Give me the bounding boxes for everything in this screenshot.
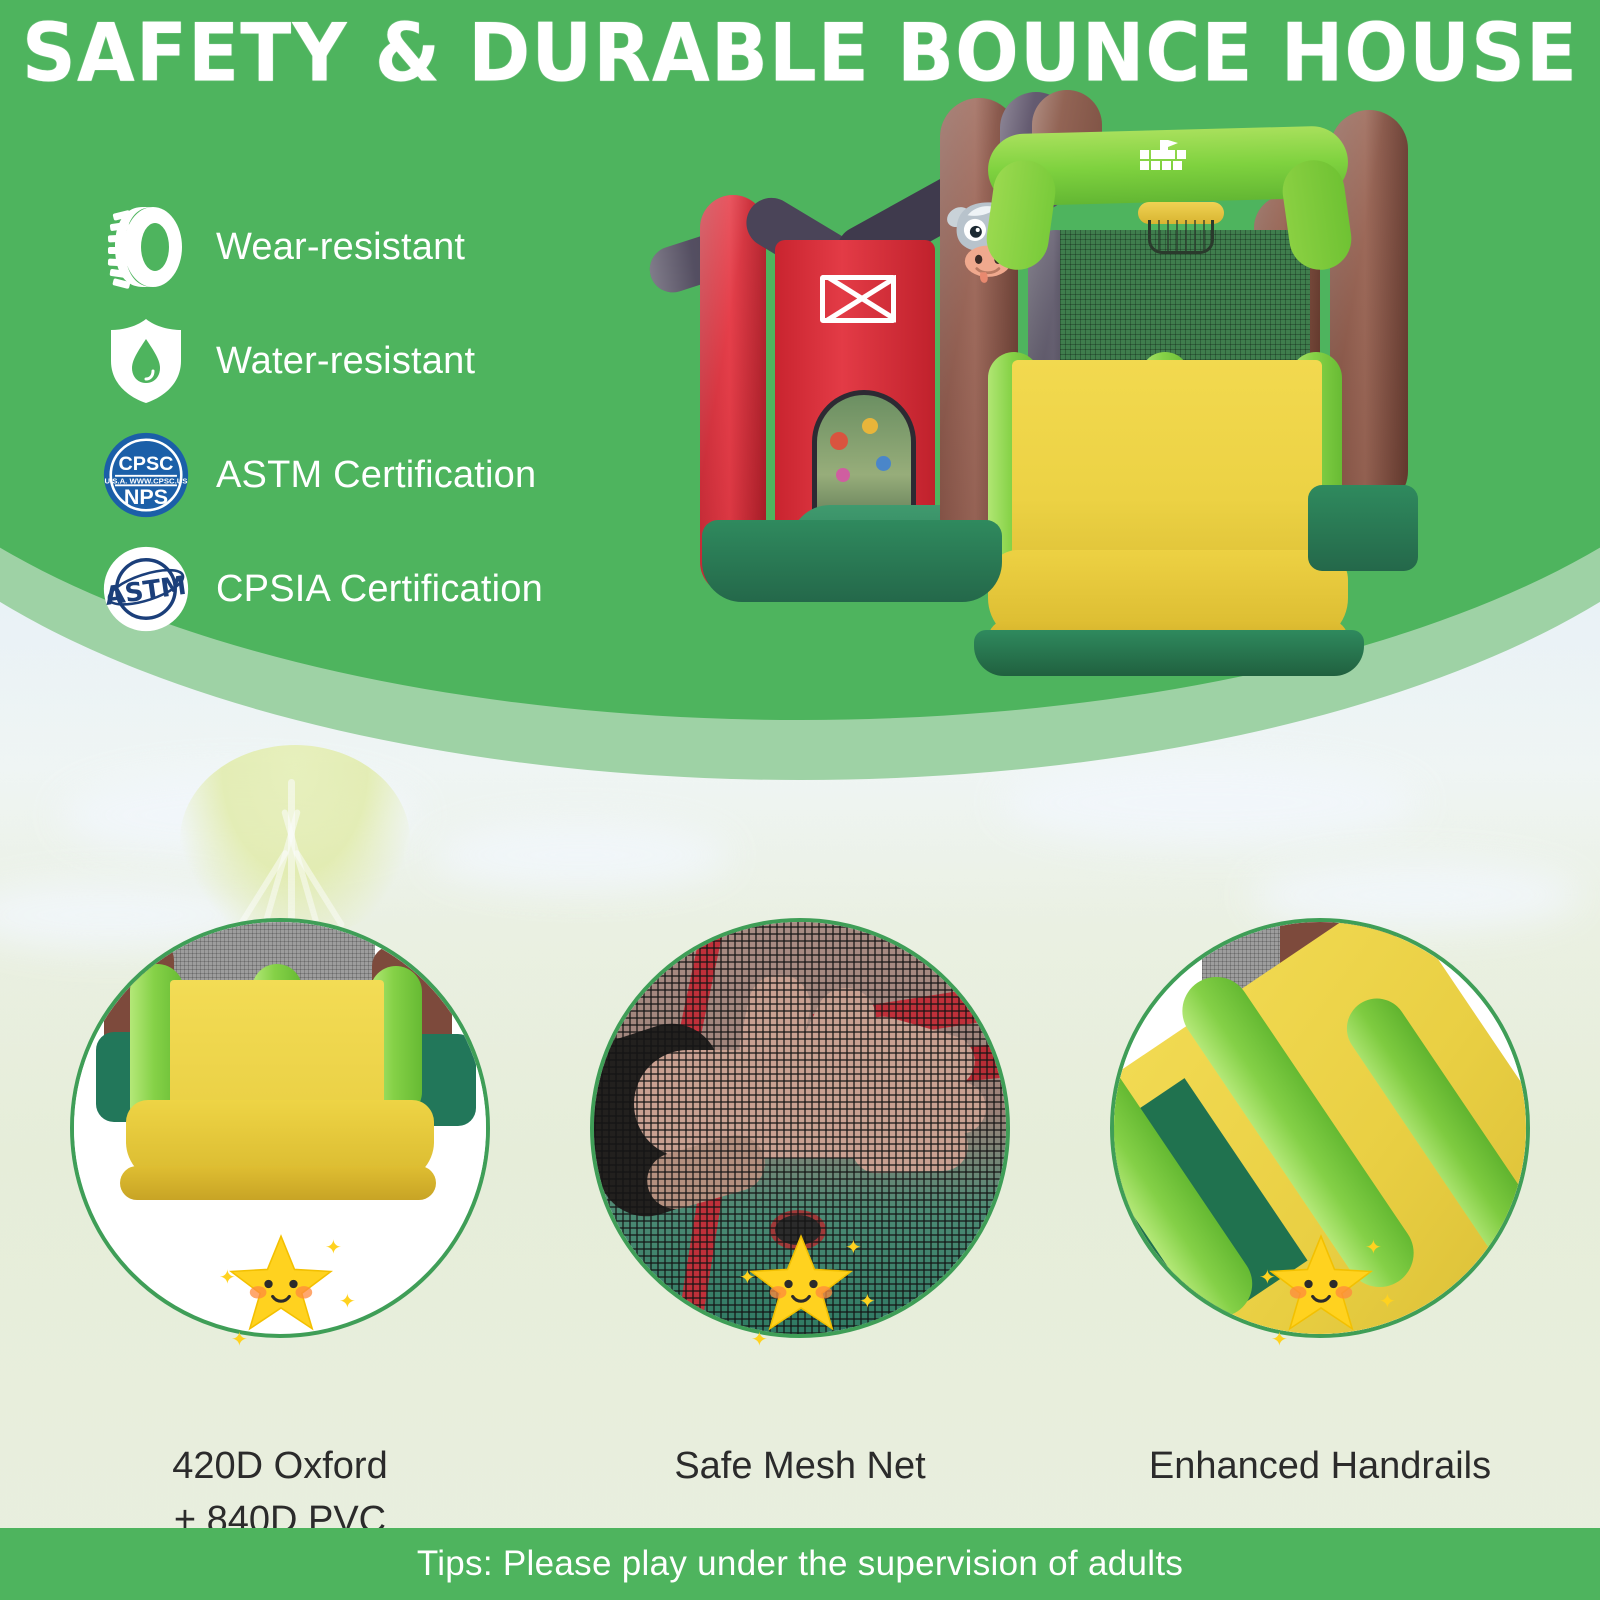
basketball-hoop-net	[1148, 220, 1214, 254]
tire-icon	[100, 201, 192, 293]
feature-label: CPSIA Certification	[216, 568, 543, 611]
cpsc-top-text: CPSC	[119, 453, 174, 475]
feature-item-wear-resistant: Wear-resistant	[100, 190, 660, 304]
cloud-decoration	[1000, 760, 1420, 845]
feature-item-astm-certification: CPSC U.S.A. WWW.CPSC.US NPS ASTM Certifi…	[100, 418, 660, 532]
castle-logo-icon	[1138, 138, 1188, 178]
caption-line: 420D Oxford	[50, 1440, 510, 1494]
feature-label: Water-resistant	[216, 340, 475, 383]
shield-water-drop-icon	[100, 315, 192, 407]
cloud-decoration	[430, 820, 730, 890]
tips-text: Tips: Please play under the supervision …	[417, 1544, 1183, 1584]
base-skirt-slide	[974, 630, 1364, 676]
feature-item-cpsia-certification: ASTM CPSIA Certification	[100, 532, 660, 646]
hero-product-image	[640, 90, 1540, 710]
astm-badge-icon: ASTM	[100, 543, 192, 635]
feature-label: Wear-resistant	[216, 226, 465, 269]
caption-line: Safe Mesh Net	[570, 1440, 1030, 1494]
detail-card-row: ✦ ✦ ✦ ✦ ✦ ✦ ✦ ✦ ✦ ✦ ✦ ✦	[0, 900, 1600, 1320]
smiling-star-badge: ✦ ✦ ✦ ✦	[735, 1222, 865, 1352]
detail-caption-mesh-net: Safe Mesh Net	[570, 1440, 1030, 1494]
tips-banner: Tips: Please play under the supervision …	[0, 1528, 1600, 1600]
smiling-star-badge: ✦ ✦ ✦ ✦	[215, 1222, 345, 1352]
cpsc-badge-icon: CPSC U.S.A. WWW.CPSC.US NPS	[100, 429, 192, 521]
smiling-star-badge: ✦ ✦ ✦ ✦	[1255, 1222, 1385, 1352]
barn-window-icon	[820, 275, 896, 323]
base-skirt-right	[1308, 485, 1418, 571]
feature-item-water-resistant: Water-resistant	[100, 304, 660, 418]
page-title: SAFETY & DURABLE BOUNCE HOUSE	[0, 12, 1600, 93]
base-skirt-left	[702, 520, 1002, 602]
cpsc-mid-text: U.S.A. WWW.CPSC.US	[105, 477, 188, 486]
detail-caption-handrails: Enhanced Handrails	[1090, 1440, 1550, 1494]
caption-line: Enhanced Handrails	[1090, 1440, 1550, 1494]
cpsc-bottom-text: NPS	[124, 485, 168, 509]
feature-list: Wear-resistant Water-resistant CPSC U.S.…	[100, 190, 660, 646]
feature-label: ASTM Certification	[216, 454, 536, 497]
